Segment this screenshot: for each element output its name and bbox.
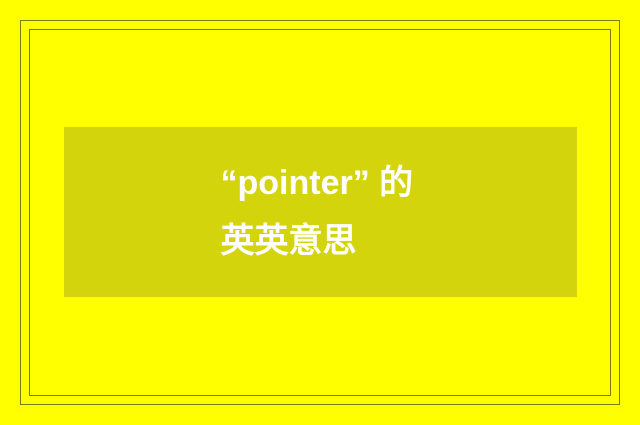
poster-canvas: “pointer” 的英英意思 [0, 0, 640, 425]
title-plate: “pointer” 的英英意思 [64, 127, 577, 297]
page-title: “pointer” 的英英意思 [221, 154, 421, 270]
